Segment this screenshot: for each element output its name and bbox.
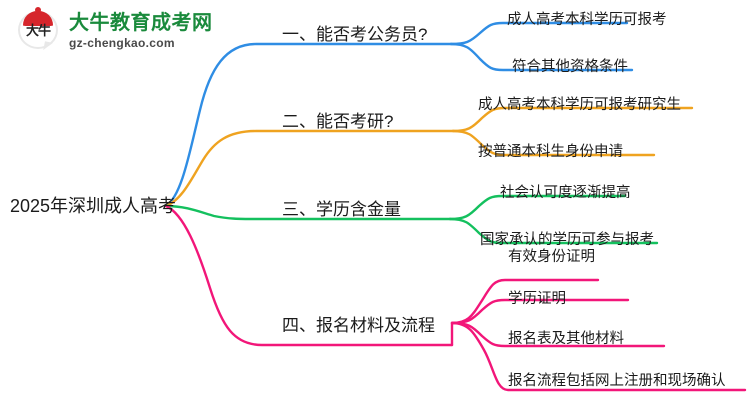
branch-label-2: 二、能否考研? bbox=[282, 107, 393, 132]
mindmap-canvas: 大牛 大牛教育成考网 gz-chengkao.com 2025年深圳成人高考 一… bbox=[0, 0, 750, 410]
logo-badge-icon: 大牛 bbox=[18, 9, 62, 53]
logo-mark-text: 大牛 bbox=[24, 24, 52, 37]
root-node-label: 2025年深圳成人高考 bbox=[10, 192, 176, 218]
logo-cn-name: 大牛教育成考网 bbox=[69, 13, 213, 33]
leaf-label-2-1: 成人高考本科学历可报考研究生 bbox=[478, 93, 681, 114]
leaf-label-4-1: 有效身份证明 bbox=[508, 245, 595, 266]
leaf-label-2-2: 按普通本科生身份申请 bbox=[478, 140, 623, 161]
branch-label-4: 四、报名材料及流程 bbox=[282, 311, 435, 336]
branch-label-1: 一、能否考公务员? bbox=[282, 20, 427, 45]
logo-wordmark: 大牛教育成考网 gz-chengkao.com bbox=[69, 13, 213, 49]
logo-site-url: gz-chengkao.com bbox=[69, 37, 213, 49]
leaf-label-4-4: 报名流程包括网上注册和现场确认 bbox=[508, 369, 726, 390]
leaf-label-3-1: 社会认可度逐渐提高 bbox=[500, 181, 631, 202]
branch-label-3: 三、学历含金量 bbox=[282, 195, 401, 220]
leaf-label-4-2: 学历证明 bbox=[508, 287, 566, 308]
logo-bubble-tail bbox=[43, 41, 53, 51]
leaf-label-1-1: 成人高考本科学历可报考 bbox=[507, 8, 667, 29]
site-logo: 大牛 大牛教育成考网 gz-chengkao.com bbox=[18, 9, 213, 53]
leaf-label-1-2: 符合其他资格条件 bbox=[512, 55, 628, 76]
leaf-label-4-3: 报名表及其他材料 bbox=[508, 327, 624, 348]
